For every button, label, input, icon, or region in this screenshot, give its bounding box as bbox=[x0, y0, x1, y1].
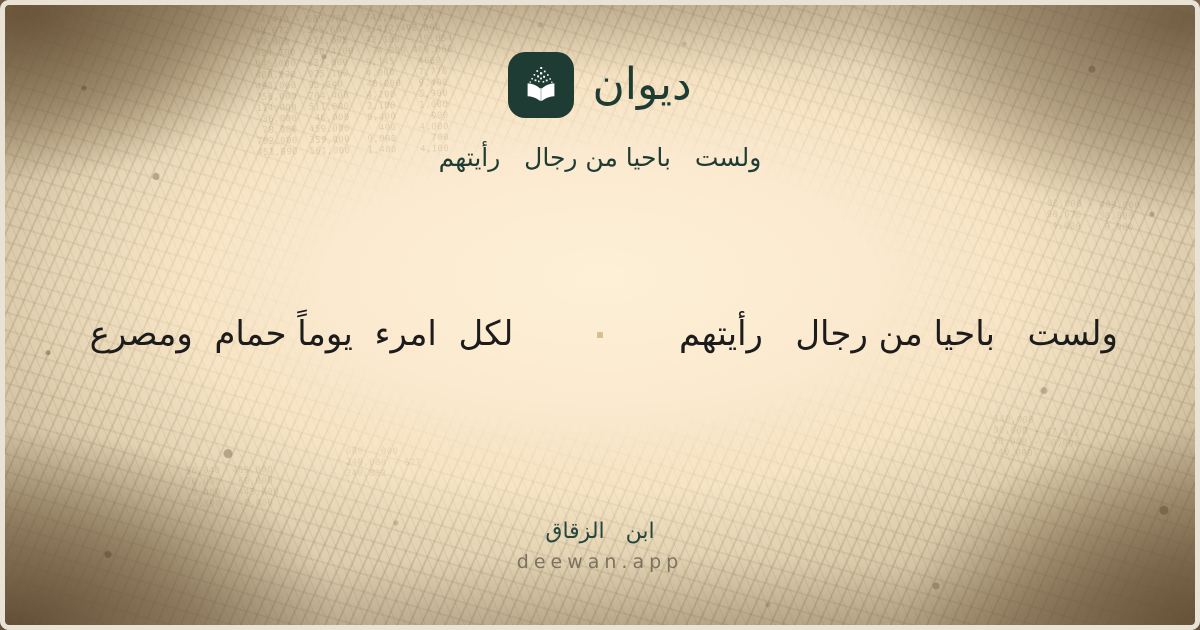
open-book-with-sparkles-icon bbox=[520, 64, 562, 106]
verse-separator-dot bbox=[597, 332, 603, 338]
verse-line: ولست باحيا من رجال رأيتهم لكل امرء يوماً… bbox=[0, 312, 1200, 358]
site-url-text: deewan.app bbox=[517, 553, 683, 572]
poster-card: 4,410 - 689,700 743,400 - 54 40,072 - 50… bbox=[0, 0, 1200, 630]
footer: ابن الزقاق deewan.app bbox=[0, 521, 1200, 572]
hemistich-second: لكل امرء يوماً حمام ومصرع bbox=[46, 312, 557, 358]
hemistich-first: ولست باحيا من رجال رأيتهم bbox=[643, 312, 1154, 358]
brand: ديوان bbox=[508, 52, 691, 118]
poem-subtitle: ولست باحيا من رجال رأيتهم bbox=[439, 142, 762, 175]
app-logo-badge bbox=[508, 52, 574, 118]
app-title: ديوان bbox=[592, 63, 691, 107]
poet-name: ابن الزقاق bbox=[545, 521, 654, 543]
